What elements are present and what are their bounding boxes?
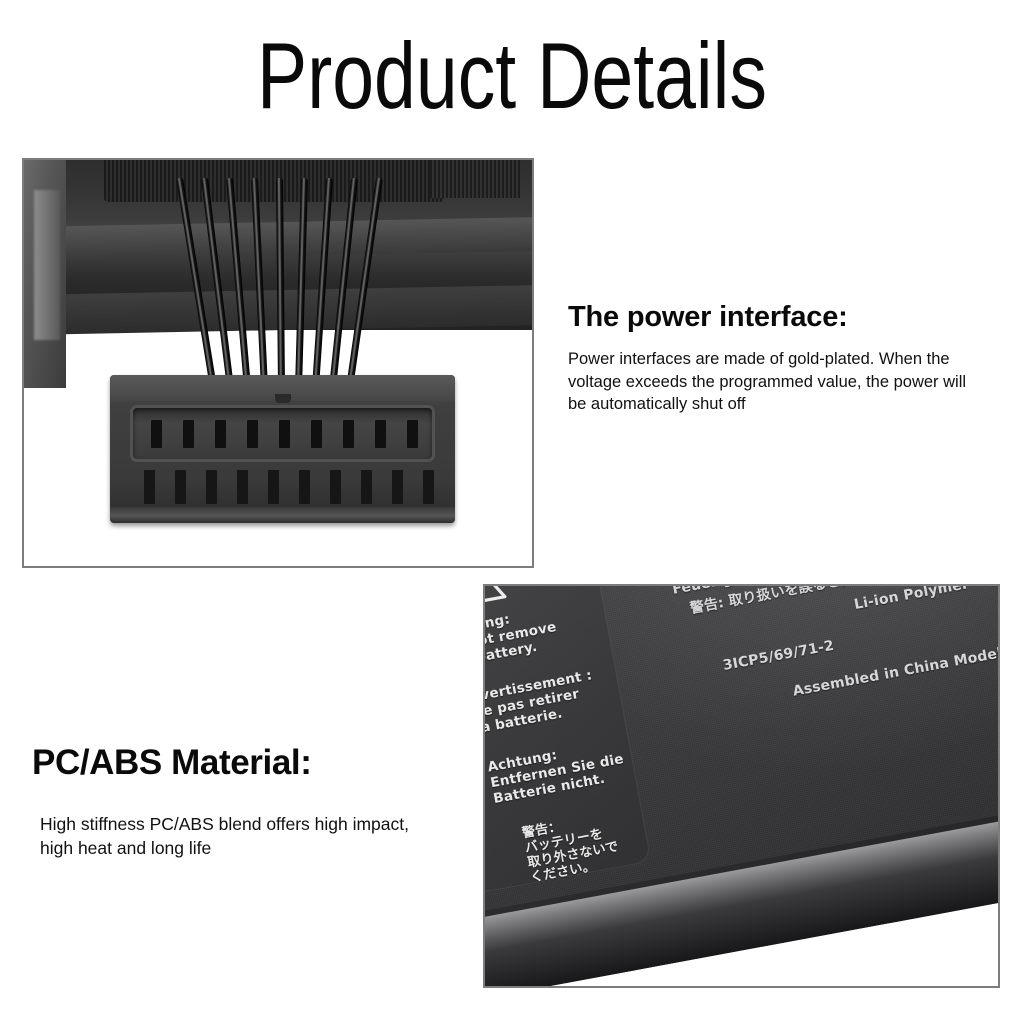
connector-rib: [206, 470, 217, 504]
fabric-strip: [104, 158, 444, 202]
connector-rib: [144, 470, 155, 504]
battery-power-connector-photo: [22, 158, 534, 568]
connector-rib: [423, 470, 434, 504]
connector-pin: [279, 420, 290, 448]
connector-rib: [237, 470, 248, 504]
power-interface-body: Power interfaces are made of gold-plated…: [568, 348, 988, 416]
connector-pin: [407, 420, 418, 448]
connector-pin: [311, 420, 322, 448]
connector-rib: [330, 470, 341, 504]
connector-rib: [299, 470, 310, 504]
connector-pin-channel: [130, 405, 435, 462]
connector-block: [110, 375, 455, 523]
connector-pin: [247, 420, 258, 448]
connector-rib: [175, 470, 186, 504]
connector-rib: [392, 470, 403, 504]
wire-highlight: [278, 178, 282, 388]
page-title: Product Details: [102, 26, 921, 126]
warning-text-french: Avertissement : ne pas retirer la batter…: [485, 667, 599, 737]
battery-side-highlight: [34, 190, 60, 340]
warning-text-german: Achtung: Entfernen Sie die Batterie nich…: [486, 735, 628, 807]
pcabs-material-heading: PC/ABS Material:: [32, 742, 312, 784]
connector-rib: [361, 470, 372, 504]
connector-pin: [215, 420, 226, 448]
connector-pin: [375, 420, 386, 448]
fabric-strip-right: [430, 158, 520, 198]
battery-label-photo: Warning: Do not remove the battery. Aver…: [483, 584, 1000, 988]
connector-pin: [151, 420, 162, 448]
connector-rib: [268, 470, 279, 504]
pcabs-material-body: High stiffness PC/ABS blend offers high …: [40, 812, 440, 860]
connector-bottom-face: [110, 507, 455, 523]
connector-scene: [24, 160, 532, 566]
connector-pin: [343, 420, 354, 448]
connector-pin: [183, 420, 194, 448]
battery-scene: Warning: Do not remove the battery. Aver…: [485, 586, 998, 986]
power-interface-heading: The power interface:: [568, 300, 848, 334]
connector-keying-nub: [275, 394, 291, 403]
battery-body-rotated: Warning: Do not remove the battery. Aver…: [485, 586, 998, 986]
warning-triangle-icon: [485, 586, 507, 610]
warning-text-english: Warning: Do not remove the battery.: [485, 603, 561, 671]
